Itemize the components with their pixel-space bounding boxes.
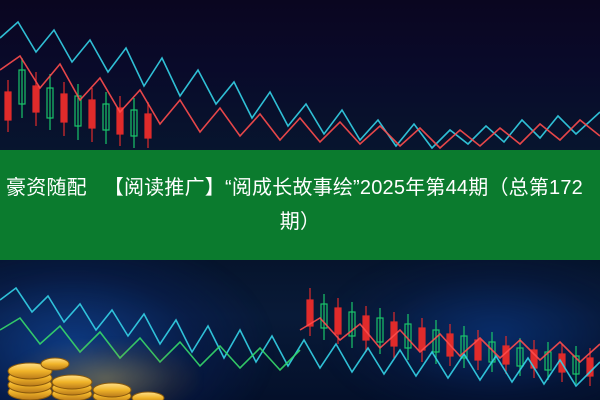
title-text-row: 豪资随配 【阅读推广】“阅成长故事绘”2025年第44期（总第172期） bbox=[6, 171, 594, 239]
title-band: 豪资随配 【阅读推广】“阅成长故事绘”2025年第44期（总第172期） bbox=[0, 150, 600, 260]
headline-text: 【阅读推广】“阅成长故事绘”2025年第44期（总第172期） bbox=[104, 177, 583, 233]
banner-image: 豪资随配 【阅读推广】“阅成长故事绘”2025年第44期（总第172期） bbox=[0, 0, 600, 400]
gold-coins-icon bbox=[0, 330, 230, 400]
brand-label: 豪资随配 bbox=[6, 171, 87, 205]
